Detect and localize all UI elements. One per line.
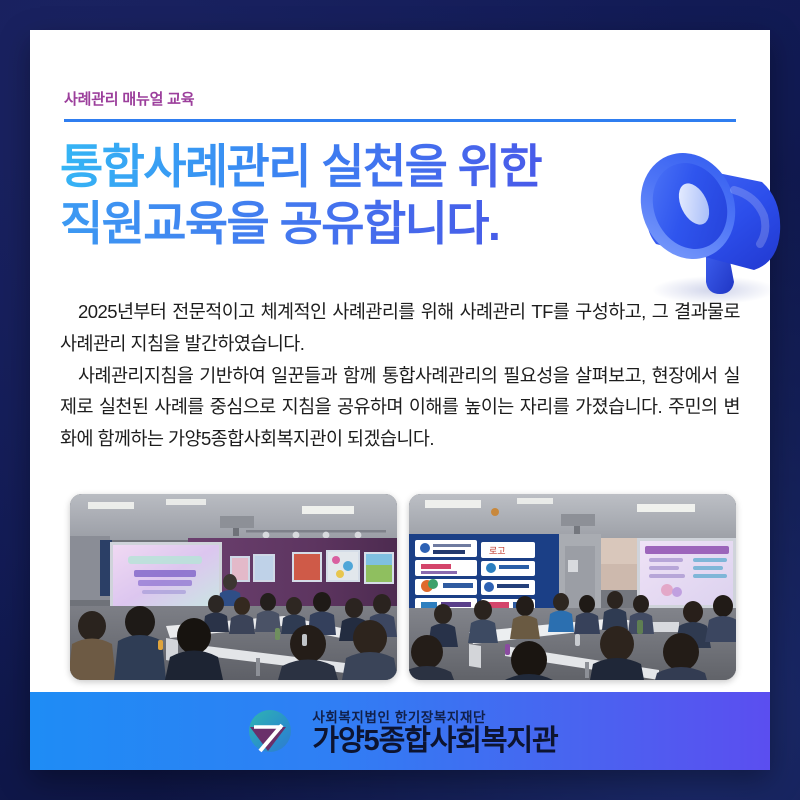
gayang5-circle-logo — [242, 703, 298, 759]
photo-gallery: 로고 — [70, 494, 736, 680]
headline-line-1: 통합사례관리 실천을 위한 — [60, 138, 660, 195]
footer-band: 사회복지법인 한기장복지재단 가양5종합사회복지관 — [30, 692, 770, 770]
body-paragraph-1: 2025년부터 전문적이고 체계적인 사례관리를 위해 사례관리 TF를 구성하… — [60, 296, 740, 360]
megaphone-icon — [622, 134, 800, 314]
svg-text:로고: 로고 — [489, 546, 506, 556]
training-room-photo-left[interactable] — [70, 494, 397, 680]
organization-name: 가양5종합사회복지관 — [312, 727, 557, 756]
training-room-photo-right[interactable]: 로고 — [409, 494, 736, 680]
body-text: 2025년부터 전문적이고 체계적인 사례관리를 위해 사례관리 TF를 구성하… — [60, 296, 740, 455]
headline-line-2: 직원교육을 공유합니다. — [60, 195, 660, 252]
header-divider — [64, 119, 736, 122]
footer-text: 사회복지법인 한기장복지재단 가양5종합사회복지관 — [312, 706, 557, 756]
foundation-name: 사회복지법인 한기장복지재단 — [312, 706, 486, 726]
announcement-card: 사례관리 매뉴얼 교육 통합사례관리 실천을 위한 직원교육을 공유합니다. — [30, 30, 770, 770]
headline: 통합사례관리 실천을 위한 직원교육을 공유합니다. — [60, 138, 660, 253]
body-paragraph-2: 사례관리지침을 기반하여 일꾼들과 함께 통합사례관리의 필요성을 살펴보고, … — [60, 360, 740, 455]
poster-background: 사례관리 매뉴얼 교육 통합사례관리 실천을 위한 직원교육을 공유합니다. — [0, 0, 800, 800]
section-label: 사례관리 매뉴얼 교육 — [64, 88, 194, 109]
card-content: 사례관리 매뉴얼 교육 통합사례관리 실천을 위한 직원교육을 공유합니다. — [30, 46, 770, 770]
